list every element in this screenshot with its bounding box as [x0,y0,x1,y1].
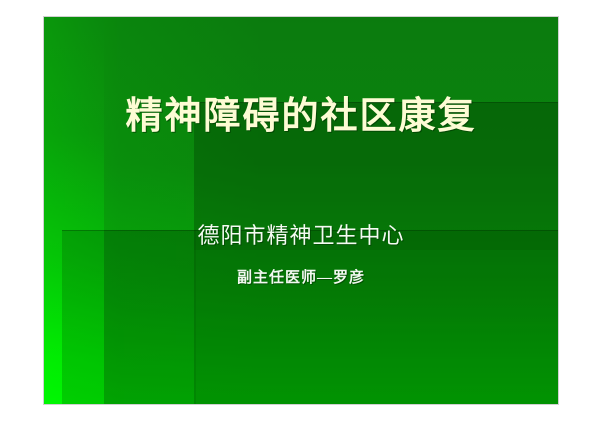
slide-canvas: 精神障碍的社区康复 德阳市精神卫生中心 副主任医师—罗彦 [44,17,558,404]
slide-subtitle-presenter: 副主任医师—罗彦 [44,269,558,289]
presentation-page: 精神障碍的社区康复 德阳市精神卫生中心 副主任医师—罗彦 [0,0,600,424]
slide-title: 精神障碍的社区康复 [44,95,558,139]
slide-subtitle-organization: 德阳市精神卫生中心 [44,222,558,251]
slide-content: 精神障碍的社区康复 德阳市精神卫生中心 副主任医师—罗彦 [44,17,558,404]
